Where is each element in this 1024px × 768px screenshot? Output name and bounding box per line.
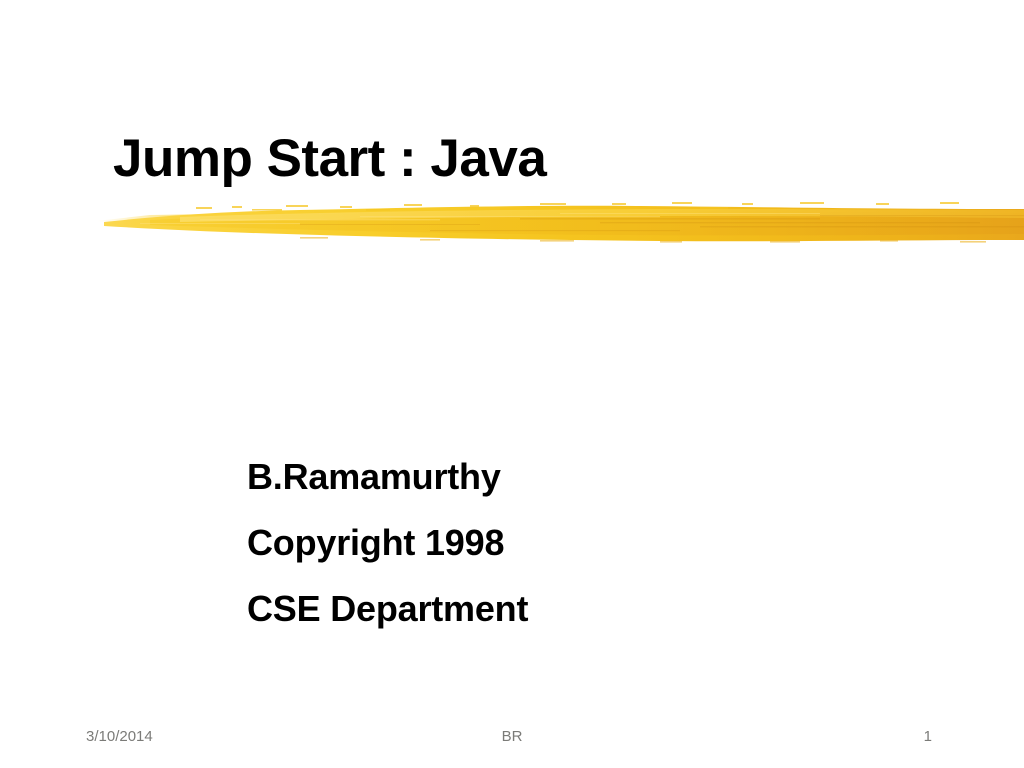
slide-title: Jump Start : Java (113, 131, 546, 187)
slide-footer: 3/10/2014 BR 1 (0, 725, 1024, 755)
presentation-slide: Jump Start : Java (0, 0, 1024, 768)
footer-page-number: 1 (0, 728, 1024, 745)
slide-body: B.Ramamurthy Copyright 1998 CSE Departme… (247, 444, 887, 642)
body-line-author: B.Ramamurthy (247, 444, 887, 510)
yellow-brush-stroke-icon (0, 190, 1024, 260)
body-line-department: CSE Department (247, 576, 887, 642)
body-line-copyright: Copyright 1998 (247, 510, 887, 576)
